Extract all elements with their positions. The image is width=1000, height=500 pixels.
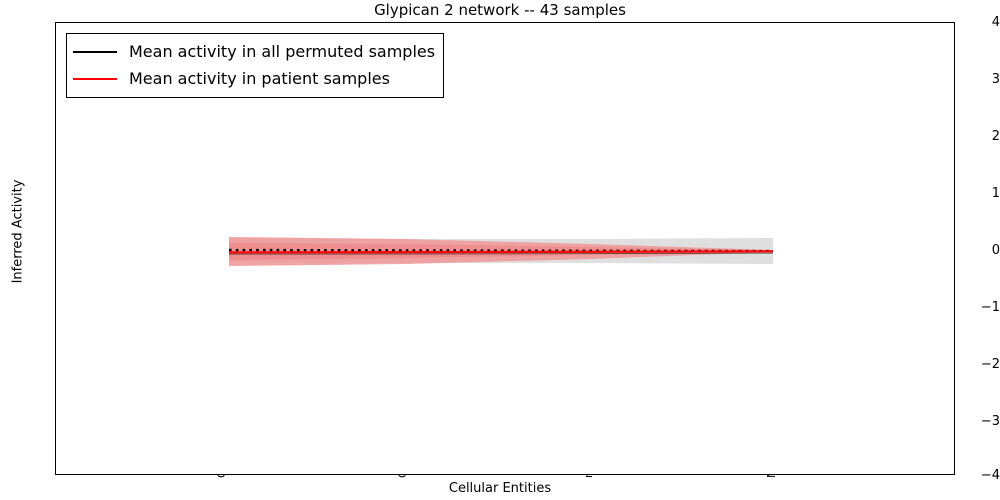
y-tick-label: 3 — [966, 73, 1000, 86]
plot-area: Mean activity in all permuted samples Me… — [55, 22, 955, 475]
y-tick-label: −2 — [966, 358, 1000, 371]
x-axis-label: Cellular Entities — [0, 481, 1000, 496]
legend-label-patient-samples: Mean activity in patient samples — [129, 69, 390, 88]
y-tick-label: 1 — [966, 187, 1000, 200]
y-tick-label: −3 — [966, 415, 1000, 428]
legend-entry-patient-samples: Mean activity in patient samples — [73, 65, 435, 92]
line-patient-samples — [229, 251, 773, 252]
y-tick-label: 0 — [966, 244, 1000, 257]
chart-legend: Mean activity in all permuted samples Me… — [66, 33, 444, 98]
y-axis-label: Inferred Activity — [11, 22, 26, 442]
chart-title: Glypican 2 network -- 43 samples — [0, 1, 1000, 19]
legend-swatch-patient-samples — [73, 78, 117, 80]
y-tick-label: −4 — [966, 469, 1000, 482]
legend-label-permuted-samples: Mean activity in all permuted samples — [129, 42, 435, 61]
y-tick-label: 2 — [966, 130, 1000, 143]
legend-swatch-permuted-samples — [73, 51, 117, 53]
y-tick-label: 4 — [966, 16, 1000, 29]
chart-figure: Glypican 2 network -- 43 samples Inferre… — [0, 0, 1000, 500]
y-tick-label: −1 — [966, 301, 1000, 314]
legend-entry-permuted-samples: Mean activity in all permuted samples — [73, 38, 435, 65]
